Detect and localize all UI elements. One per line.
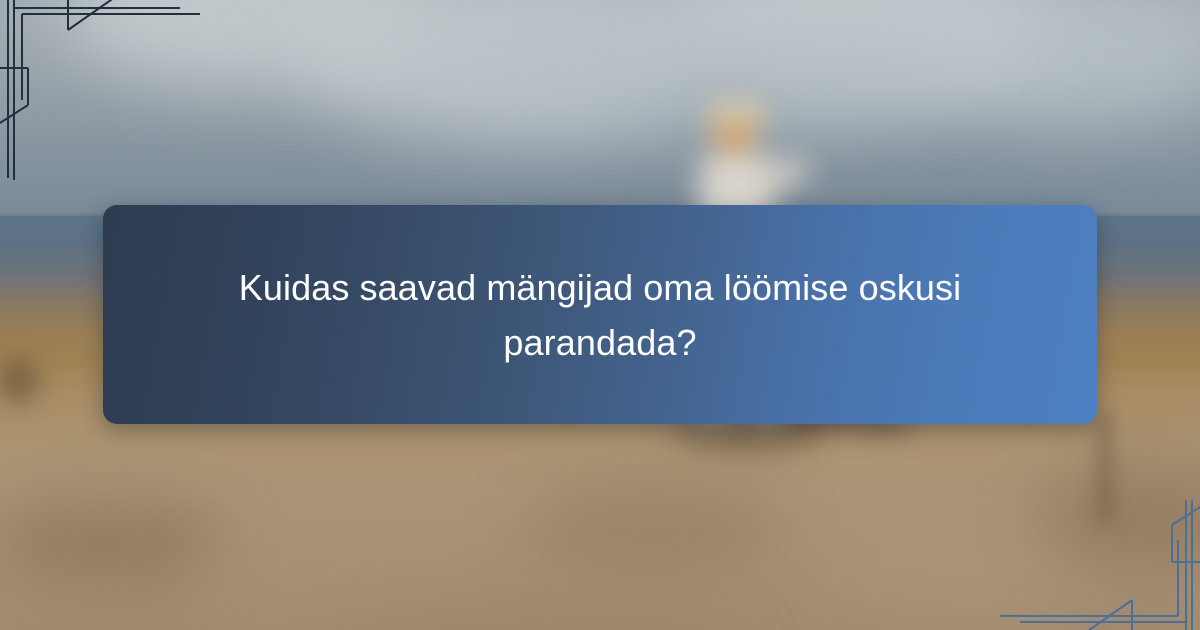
sand-texture	[0, 497, 226, 587]
sand-texture	[523, 479, 783, 579]
sand-texture	[190, 543, 490, 623]
background-object-left	[0, 358, 38, 404]
banner-stage: Kuidas saavad mängijad oma löömise oskus…	[0, 0, 1200, 630]
page-title: Kuidas saavad mängijad oma löömise oskus…	[220, 260, 980, 370]
question-card: Kuidas saavad mängijad oma löömise oskus…	[103, 205, 1097, 424]
background-object-right	[1099, 414, 1111, 524]
figure-cap	[707, 103, 765, 125]
